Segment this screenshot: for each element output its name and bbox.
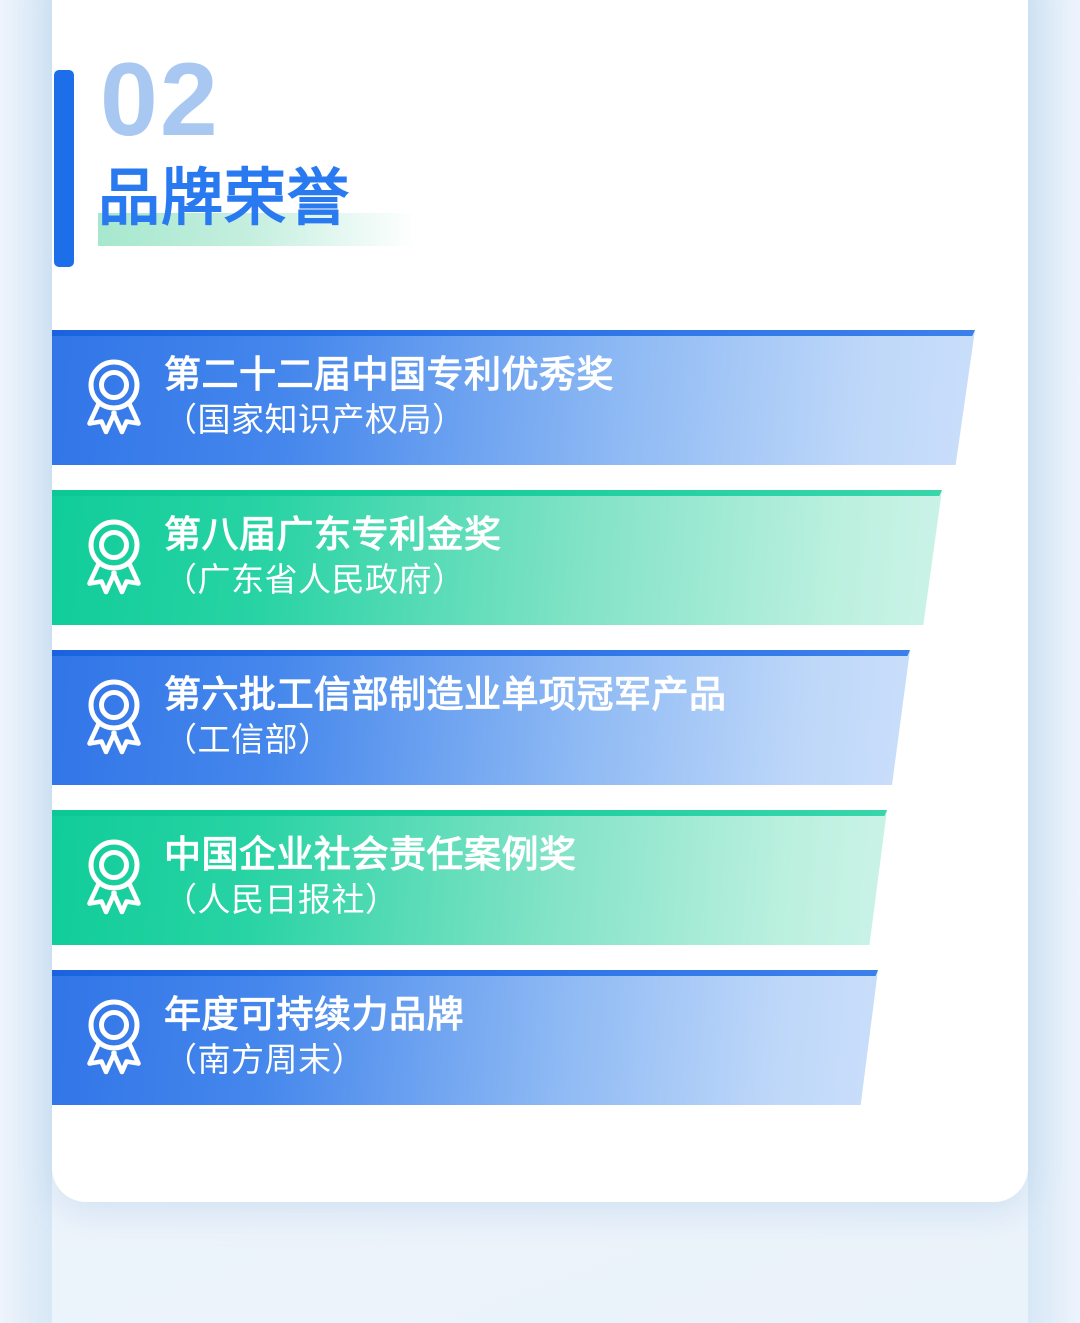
award-item-2[interactable]: 第八届广东专利金奖 （广东省人民政府） [52, 490, 942, 625]
award-issuer: （工信部） [164, 720, 727, 760]
award-issuer: （人民日报社） [164, 880, 577, 920]
header-accent-bar [54, 70, 74, 267]
page-root: 02 品牌荣誉 第二十二届中国专利优秀奖 [0, 0, 1080, 1323]
award-content: 第六批工信部制造业单项冠军产品 （工信部） [52, 650, 910, 785]
award-issuer: （广东省人民政府） [164, 560, 502, 600]
award-text: 第六批工信部制造业单项冠军产品 （工信部） [164, 674, 727, 760]
section-number: 02 [100, 48, 220, 152]
content-card: 02 品牌荣誉 第二十二届中国专利优秀奖 [52, 0, 1028, 1202]
award-list: 第二十二届中国专利优秀奖 （国家知识产权局） 第八届广东专利金奖 （ [52, 330, 1028, 1130]
section-header: 02 品牌荣誉 [52, 0, 1028, 270]
award-issuer: （南方周末） [164, 1040, 464, 1080]
page-title-wrap: 品牌荣誉 [98, 166, 350, 244]
award-item-3[interactable]: 第六批工信部制造业单项冠军产品 （工信部） [52, 650, 910, 785]
award-content: 第二十二届中国专利优秀奖 （国家知识产权局） [52, 330, 975, 465]
award-text: 第八届广东专利金奖 （广东省人民政府） [164, 514, 502, 600]
page-edge-glow-right [1028, 0, 1080, 1323]
award-text: 中国企业社会责任案例奖 （人民日报社） [164, 834, 577, 920]
medal-icon [78, 514, 150, 602]
award-name: 第六批工信部制造业单项冠军产品 [164, 674, 727, 717]
medal-icon [78, 354, 150, 442]
award-item-5[interactable]: 年度可持续力品牌 （南方周末） [52, 970, 878, 1105]
page-title: 品牌荣誉 [98, 166, 350, 232]
award-content: 第八届广东专利金奖 （广东省人民政府） [52, 490, 942, 625]
award-item-1[interactable]: 第二十二届中国专利优秀奖 （国家知识产权局） [52, 330, 975, 465]
award-name: 第八届广东专利金奖 [164, 514, 502, 557]
award-item-4[interactable]: 中国企业社会责任案例奖 （人民日报社） [52, 810, 887, 945]
page-edge-glow-left [0, 0, 52, 1323]
award-name: 第二十二届中国专利优秀奖 [164, 354, 614, 397]
award-name: 中国企业社会责任案例奖 [164, 834, 577, 877]
award-name: 年度可持续力品牌 [164, 994, 464, 1037]
award-issuer: （国家知识产权局） [164, 400, 614, 440]
award-text: 年度可持续力品牌 （南方周末） [164, 994, 464, 1080]
medal-icon [78, 674, 150, 762]
award-content: 中国企业社会责任案例奖 （人民日报社） [52, 810, 887, 945]
medal-icon [78, 994, 150, 1082]
award-content: 年度可持续力品牌 （南方周末） [52, 970, 878, 1105]
medal-icon [78, 834, 150, 922]
award-text: 第二十二届中国专利优秀奖 （国家知识产权局） [164, 354, 614, 440]
